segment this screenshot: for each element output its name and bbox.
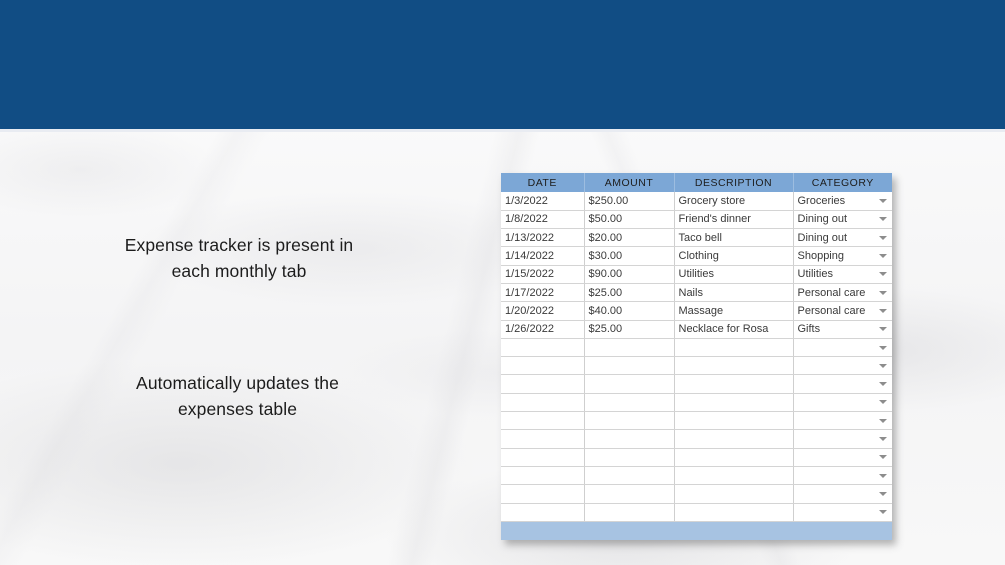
cell-description[interactable] — [674, 412, 793, 430]
cell-description[interactable]: Friend's dinner — [674, 210, 793, 228]
table-row[interactable] — [501, 375, 892, 393]
cell-amount[interactable]: $50.00 — [584, 210, 674, 228]
chevron-down-icon[interactable] — [879, 272, 887, 276]
cell-description[interactable] — [674, 393, 793, 411]
table-row[interactable] — [501, 466, 892, 484]
cell-amount[interactable] — [584, 357, 674, 375]
chevron-down-icon[interactable] — [879, 236, 887, 240]
cell-amount[interactable]: $40.00 — [584, 302, 674, 320]
table-row[interactable] — [501, 338, 892, 356]
cell-amount[interactable]: $250.00 — [584, 192, 674, 210]
cell-category[interactable]: Utilities — [793, 265, 892, 283]
cell-category-value: Gifts — [798, 323, 821, 335]
chevron-down-icon[interactable] — [879, 382, 887, 386]
chevron-down-icon[interactable] — [879, 254, 887, 258]
cell-amount[interactable] — [584, 338, 674, 356]
cell-date[interactable]: 1/26/2022 — [501, 320, 584, 338]
chevron-down-icon[interactable] — [879, 327, 887, 331]
chevron-down-icon[interactable] — [879, 437, 887, 441]
cell-category[interactable] — [793, 338, 892, 356]
table-row[interactable] — [501, 485, 892, 503]
table-row[interactable]: 1/15/2022$90.00UtilitiesUtilities — [501, 265, 892, 283]
cell-category-value: Dining out — [798, 232, 848, 244]
table-row[interactable]: 1/26/2022$25.00Necklace for RosaGifts — [501, 320, 892, 338]
cell-category[interactable] — [793, 412, 892, 430]
cell-category[interactable]: Personal care — [793, 283, 892, 301]
cell-category[interactable]: Dining out — [793, 210, 892, 228]
banner-divider — [0, 129, 1005, 132]
cell-date[interactable] — [501, 412, 584, 430]
cell-date[interactable] — [501, 375, 584, 393]
chevron-down-icon[interactable] — [879, 492, 887, 496]
cell-description[interactable] — [674, 430, 793, 448]
cell-description[interactable] — [674, 357, 793, 375]
cell-amount[interactable] — [584, 448, 674, 466]
column-header-date: DATE — [501, 173, 584, 192]
cell-date[interactable]: 1/8/2022 — [501, 210, 584, 228]
cell-date[interactable]: 1/20/2022 — [501, 302, 584, 320]
cell-date[interactable] — [501, 393, 584, 411]
cell-amount[interactable] — [584, 485, 674, 503]
table-footer-bar — [501, 522, 892, 540]
cell-date[interactable]: 1/14/2022 — [501, 247, 584, 265]
table-row[interactable]: 1/13/2022$20.00Taco bellDining out — [501, 229, 892, 247]
chevron-down-icon[interactable] — [879, 474, 887, 478]
cell-category[interactable] — [793, 393, 892, 411]
cell-amount[interactable]: $30.00 — [584, 247, 674, 265]
cell-category[interactable]: Shopping — [793, 247, 892, 265]
cell-amount[interactable]: $20.00 — [584, 229, 674, 247]
table-row[interactable] — [501, 430, 892, 448]
cell-category-value: Dining out — [798, 213, 848, 225]
table-row[interactable]: 1/3/2022$250.00Grocery storeGroceries — [501, 192, 892, 210]
slide-canvas: EXPENSE TRACKER Track your monthly expen… — [0, 0, 1005, 565]
cell-date[interactable] — [501, 503, 584, 521]
cell-amount[interactable] — [584, 412, 674, 430]
chevron-down-icon[interactable] — [879, 510, 887, 514]
column-header-category: CATEGORY — [793, 173, 892, 192]
cell-date[interactable]: 1/3/2022 — [501, 192, 584, 210]
cell-date[interactable] — [501, 338, 584, 356]
cell-category-value: Personal care — [798, 287, 866, 299]
cell-category[interactable]: Personal care — [793, 302, 892, 320]
cell-amount[interactable]: $25.00 — [584, 320, 674, 338]
table-row[interactable]: 1/20/2022$40.00MassagePersonal care — [501, 302, 892, 320]
table-row[interactable] — [501, 357, 892, 375]
title-banner — [0, 0, 1005, 129]
cell-date[interactable]: 1/15/2022 — [501, 265, 584, 283]
cell-category[interactable] — [793, 485, 892, 503]
cell-amount[interactable] — [584, 503, 674, 521]
cell-date[interactable] — [501, 466, 584, 484]
callout-text-tab: Expense tracker is present in each month… — [115, 232, 363, 284]
cell-description[interactable]: Utilities — [674, 265, 793, 283]
chevron-down-icon[interactable] — [879, 400, 887, 404]
cell-amount[interactable]: $25.00 — [584, 283, 674, 301]
cell-description[interactable]: Taco bell — [674, 229, 793, 247]
cell-description[interactable] — [674, 338, 793, 356]
cell-description[interactable]: Grocery store — [674, 192, 793, 210]
expenses-table[interactable]: DATE AMOUNT DESCRIPTION CATEGORY 1/3/202… — [501, 173, 892, 540]
cell-amount[interactable] — [584, 466, 674, 484]
table-row[interactable] — [501, 503, 892, 521]
cell-description[interactable]: Clothing — [674, 247, 793, 265]
cell-category[interactable] — [793, 357, 892, 375]
chevron-down-icon[interactable] — [879, 346, 887, 350]
cell-date[interactable]: 1/13/2022 — [501, 229, 584, 247]
cell-description[interactable]: Necklace for Rosa — [674, 320, 793, 338]
cell-description[interactable] — [674, 485, 793, 503]
table-row[interactable] — [501, 448, 892, 466]
cell-category[interactable] — [793, 448, 892, 466]
callout-text-updates: Automatically updates the expenses table — [135, 370, 340, 422]
cell-description[interactable] — [674, 503, 793, 521]
chevron-down-icon[interactable] — [879, 199, 887, 203]
cell-category-value: Personal care — [798, 305, 866, 317]
cell-date[interactable]: 1/17/2022 — [501, 283, 584, 301]
column-header-amount: AMOUNT — [584, 173, 674, 192]
cell-category[interactable]: Dining out — [793, 229, 892, 247]
table-header-row: DATE AMOUNT DESCRIPTION CATEGORY — [501, 173, 892, 192]
cell-date[interactable] — [501, 448, 584, 466]
chevron-down-icon[interactable] — [879, 455, 887, 459]
table-row[interactable] — [501, 412, 892, 430]
cell-date[interactable] — [501, 430, 584, 448]
cell-date[interactable] — [501, 357, 584, 375]
cell-category[interactable] — [793, 503, 892, 521]
cell-category-value: Shopping — [798, 250, 845, 262]
cell-category[interactable]: Groceries — [793, 192, 892, 210]
cell-category-value: Utilities — [798, 268, 833, 280]
table-row[interactable]: 1/8/2022$50.00Friend's dinnerDining out — [501, 210, 892, 228]
cell-category[interactable] — [793, 466, 892, 484]
cell-amount[interactable]: $90.00 — [584, 265, 674, 283]
cell-description[interactable] — [674, 375, 793, 393]
cell-category-value: Groceries — [798, 195, 846, 207]
cell-category[interactable]: Gifts — [793, 320, 892, 338]
cell-amount[interactable] — [584, 393, 674, 411]
chevron-down-icon[interactable] — [879, 419, 887, 423]
cell-category[interactable] — [793, 375, 892, 393]
table-row[interactable]: 1/17/2022$25.00NailsPersonal care — [501, 283, 892, 301]
table-row[interactable] — [501, 393, 892, 411]
cell-amount[interactable] — [584, 375, 674, 393]
cell-description[interactable] — [674, 466, 793, 484]
chevron-down-icon[interactable] — [879, 309, 887, 313]
cell-category[interactable] — [793, 430, 892, 448]
chevron-down-icon[interactable] — [879, 364, 887, 368]
cell-description[interactable] — [674, 448, 793, 466]
cell-amount[interactable] — [584, 430, 674, 448]
cell-description[interactable]: Massage — [674, 302, 793, 320]
chevron-down-icon[interactable] — [879, 217, 887, 221]
cell-description[interactable]: Nails — [674, 283, 793, 301]
table-row[interactable]: 1/14/2022$30.00ClothingShopping — [501, 247, 892, 265]
cell-date[interactable] — [501, 485, 584, 503]
column-header-description: DESCRIPTION — [674, 173, 793, 192]
chevron-down-icon[interactable] — [879, 291, 887, 295]
